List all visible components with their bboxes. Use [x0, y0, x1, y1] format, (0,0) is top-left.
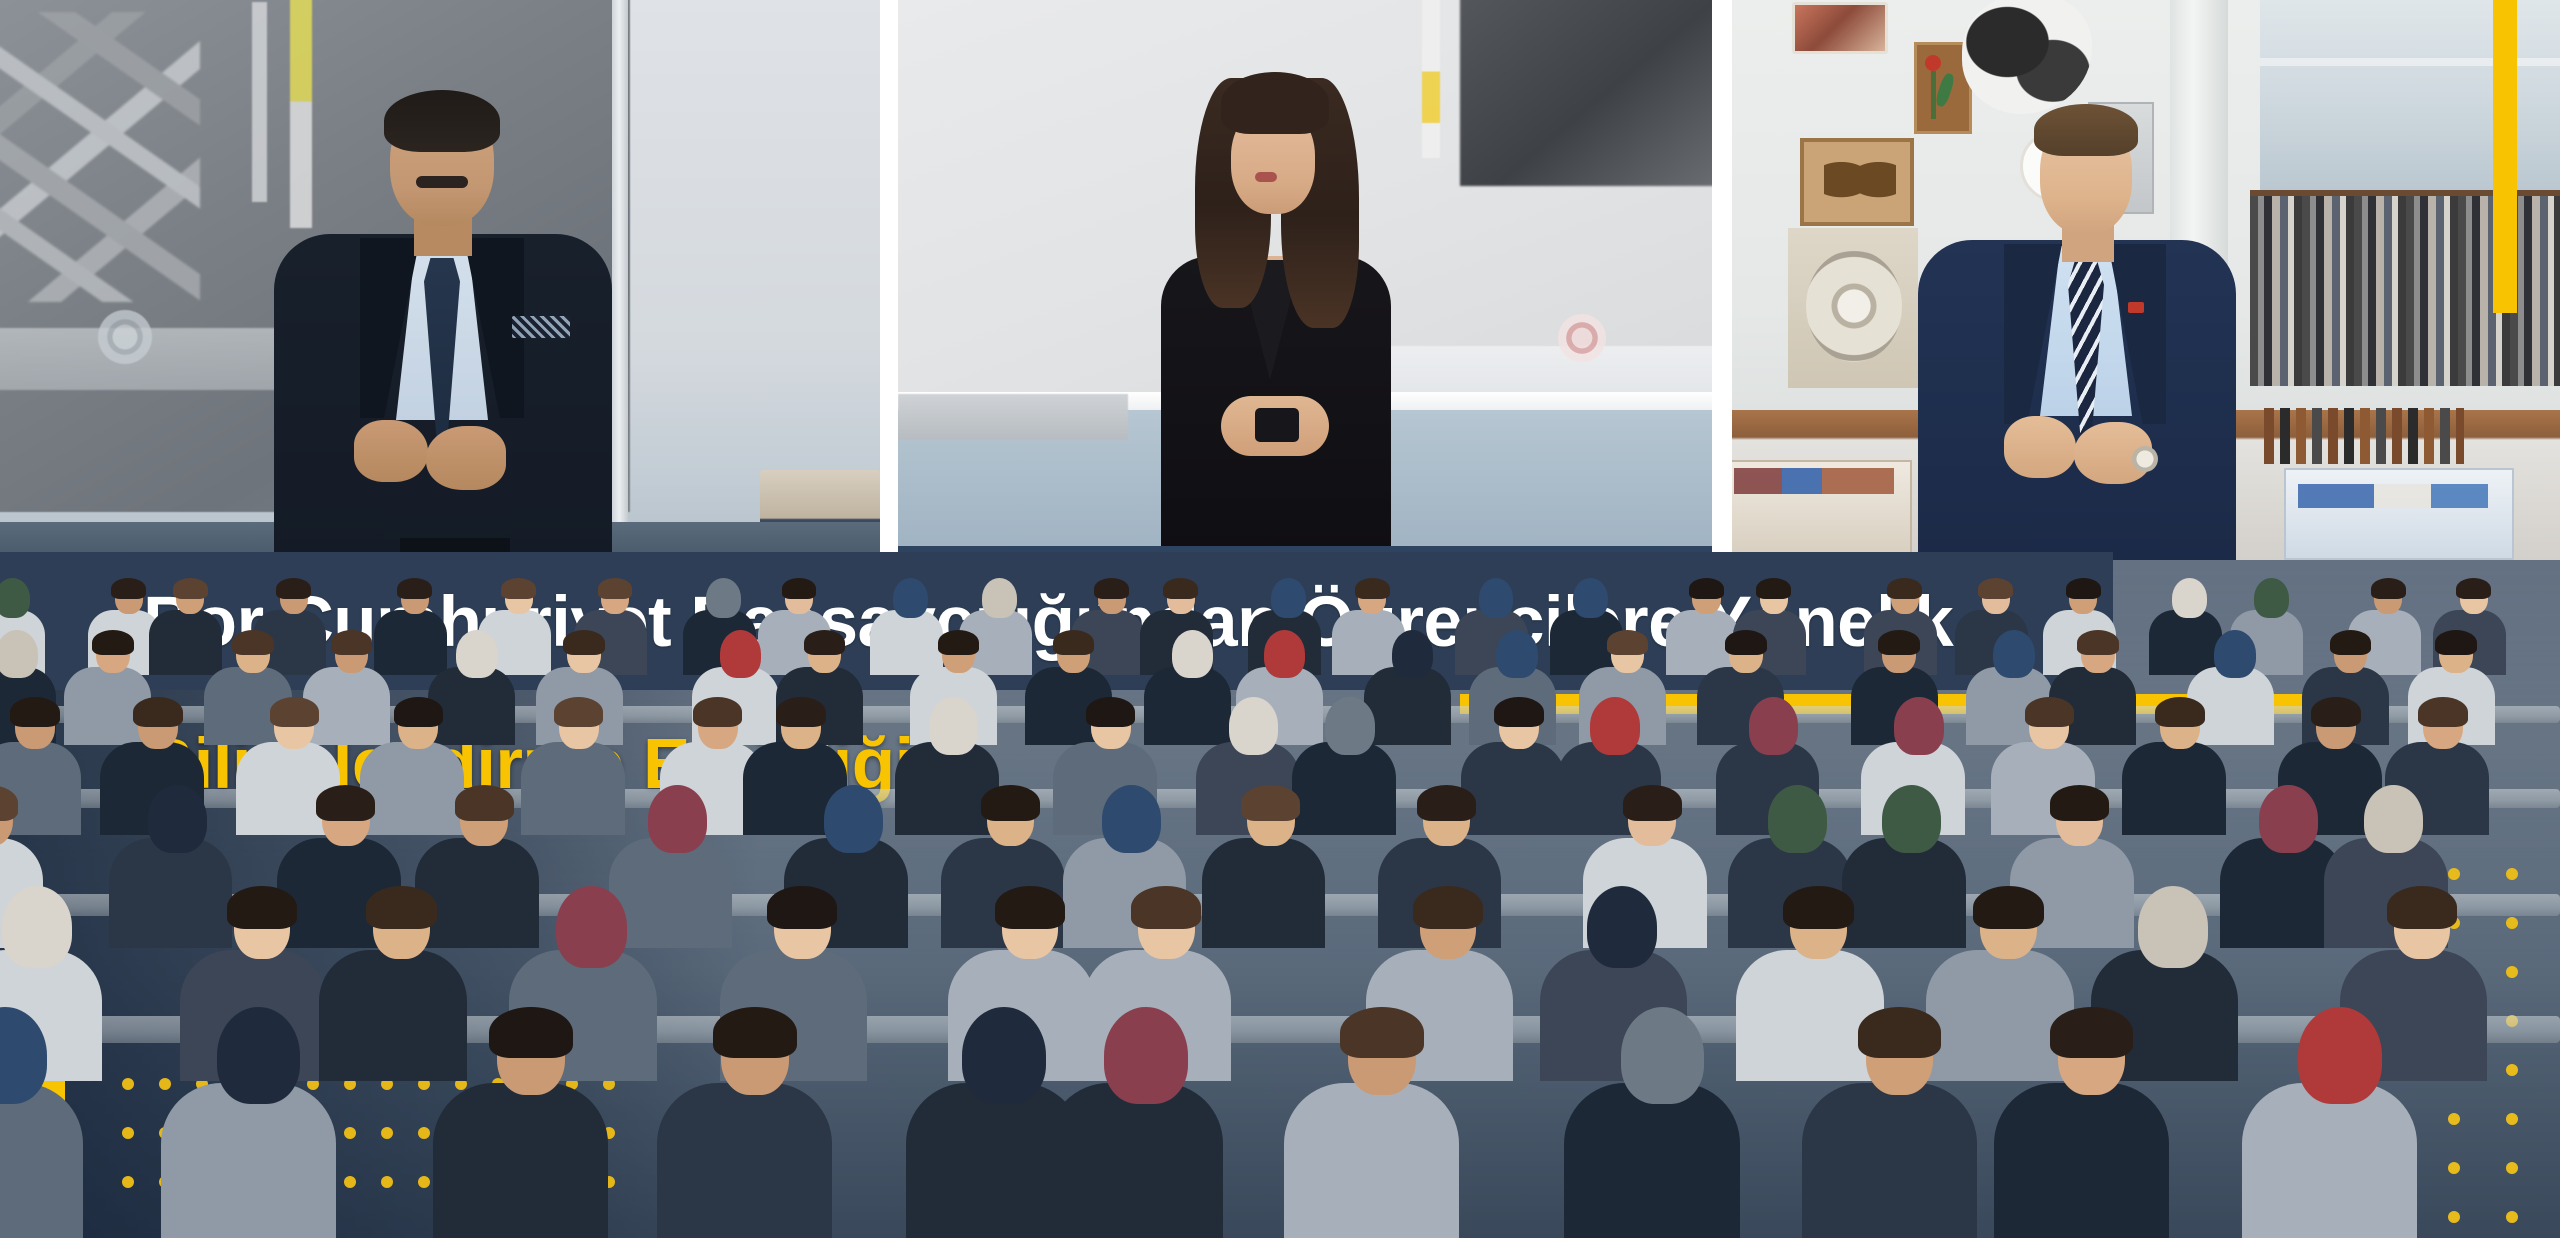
audience-member-headscarf — [1587, 886, 1657, 968]
audience-member-hair — [1783, 886, 1853, 929]
audience-member-body — [1994, 1083, 2170, 1238]
audience-member-headscarf — [1479, 578, 1514, 618]
audience-member-body — [433, 1083, 609, 1238]
audience-member-hair — [366, 886, 436, 929]
audience-member-hair — [173, 578, 208, 599]
audience-member-headscarf — [2364, 785, 2423, 854]
audience-member-hair — [489, 1007, 573, 1058]
audience-member-headscarf — [1271, 578, 1306, 618]
audience-member-headscarf — [1993, 630, 2035, 678]
hair-top — [1221, 72, 1329, 134]
audience-member-headscarf — [929, 697, 979, 755]
audience-member-body — [609, 838, 733, 948]
lips — [1255, 172, 1277, 182]
pocket-square — [512, 316, 570, 338]
audience-member-hair — [1241, 785, 1300, 821]
audience-member-headscarf — [1768, 785, 1827, 854]
audience-member-body — [1842, 838, 1966, 948]
speaker-figure — [250, 90, 630, 560]
audience-member-hair — [394, 697, 444, 727]
audience-member-headscarf — [2298, 1007, 2382, 1104]
audience-member-hair — [776, 697, 826, 727]
audience-member-body — [1802, 1083, 1978, 1238]
dot — [381, 1127, 393, 1139]
audience-member-headscarf — [2214, 630, 2256, 678]
audience-member-hair — [227, 886, 297, 929]
audience-member-hair — [938, 630, 980, 655]
audience-member-hair — [2435, 630, 2477, 655]
audience-member-headscarf — [824, 785, 883, 854]
audience-member-headscarf — [2138, 886, 2208, 968]
audience-member-hair — [1756, 578, 1791, 599]
audience-member-hair — [2066, 578, 2101, 599]
audience-member-headscarf — [1590, 697, 1640, 755]
audience-member-hair — [276, 578, 311, 599]
audience-member-body — [1144, 667, 1231, 745]
audience-member-body — [1284, 1083, 1460, 1238]
audience-member-headscarf — [720, 630, 762, 678]
audience-member-body — [109, 838, 233, 948]
audience-member-headscarf — [706, 578, 741, 618]
audience-member-headscarf — [2254, 578, 2289, 618]
audience-member-hair — [1053, 630, 1095, 655]
audience-member-body — [0, 1083, 83, 1238]
audience-member-headscarf — [1325, 697, 1375, 755]
audience-member-body — [1202, 838, 1326, 948]
audience-member-hair — [1340, 1007, 1424, 1058]
slide-seal-emblem — [98, 310, 152, 364]
audience-member-headscarf — [1392, 630, 1434, 678]
audience-member-hair — [563, 630, 605, 655]
audience-member-hair — [1413, 886, 1483, 929]
audience-member-hair — [270, 697, 320, 727]
slide-highlight-text — [1422, 0, 1440, 158]
dot — [2506, 966, 2518, 978]
dot — [2506, 868, 2518, 880]
audience-member-hair — [1094, 578, 1129, 599]
audience-member-hair — [2387, 886, 2457, 929]
audience-member-hair — [995, 886, 1065, 929]
audience-member-hair — [1978, 578, 2013, 599]
slide-dark-image — [1460, 0, 1712, 186]
audience-member-body — [870, 610, 943, 675]
photo-strip — [0, 0, 2560, 560]
photo-prosecutor-presenting — [0, 0, 880, 560]
audience-member-hair — [1131, 886, 1201, 929]
audience-member-hair — [2311, 697, 2361, 727]
hair — [2034, 104, 2138, 156]
butterfly-motif — [1824, 158, 1896, 212]
audience-member-headscarf — [0, 630, 38, 678]
audience-member-hair — [1725, 630, 1767, 655]
dot — [122, 1127, 134, 1139]
audience-member-body — [2122, 742, 2226, 835]
audience-member-hair — [2456, 578, 2491, 599]
audience-member-headscarf — [0, 578, 30, 618]
audience-member-body — [1926, 950, 2073, 1082]
dot — [122, 1176, 134, 1188]
hand-left — [354, 420, 428, 482]
audience-member-hair — [111, 578, 146, 599]
wristwatch — [486, 454, 514, 482]
dot — [2448, 1162, 2460, 1174]
rose-bloom — [1925, 55, 1941, 71]
audience-member-headscarf — [1229, 697, 1279, 755]
audience-member-hair — [1494, 697, 1544, 727]
audience-member-headscarf — [962, 1007, 1046, 1104]
audience-member-headscarf — [1749, 697, 1799, 755]
photo-2-scene — [898, 0, 1712, 560]
news-banner: Bor Cumhuriyet Başsavcılığı’ndan Öğrenci… — [0, 0, 2560, 1238]
photo-1-scene — [0, 0, 880, 560]
tool-cups — [2264, 408, 2464, 464]
audience-member-hair — [232, 630, 274, 655]
dot — [418, 1127, 430, 1139]
audience-member-hair — [2418, 697, 2468, 727]
audience-member-headscarf — [648, 785, 707, 854]
audience-member-hair — [804, 630, 846, 655]
dot — [2448, 868, 2460, 880]
dot — [2506, 917, 2518, 929]
audience-member-body — [360, 742, 464, 835]
audience-member-hair — [2025, 697, 2075, 727]
audience-member-body — [149, 610, 222, 675]
audience-member-headscarf — [148, 785, 207, 854]
moustache — [416, 176, 468, 188]
audience-member-headscarf — [1621, 1007, 1705, 1104]
dot — [2448, 1113, 2460, 1125]
audience-member-headscarf — [1573, 578, 1608, 618]
audience-member-headscarf — [1172, 630, 1214, 678]
audience-member-hair — [331, 630, 373, 655]
dot — [2506, 1113, 2518, 1125]
audience-member-body — [319, 950, 466, 1082]
dot — [2506, 1064, 2518, 1076]
audience-member-hair — [397, 578, 432, 599]
audience-member-body — [1564, 1083, 1740, 1238]
wall-art-leather — [1792, 2, 1888, 54]
audience-member-body — [657, 1083, 833, 1238]
slide-chain-image — [0, 12, 200, 302]
audience-member-hair — [598, 578, 633, 599]
audience-member-hair — [1163, 578, 1198, 599]
dot — [122, 1078, 134, 1090]
audience-member-hair — [782, 578, 817, 599]
audience-member-body — [1364, 667, 1451, 745]
audience-member-headscarf — [217, 1007, 301, 1104]
audience-member-hair — [133, 697, 183, 727]
audience-member-body — [1048, 1083, 1224, 1238]
dot — [2506, 1162, 2518, 1174]
audience-member-hair — [1607, 630, 1649, 655]
audience-member-headscarf — [1102, 785, 1161, 854]
dot — [2506, 1211, 2518, 1223]
photo-official-workshop — [1732, 0, 2560, 560]
audience-member-body — [1292, 742, 1396, 835]
audience-member-body — [895, 742, 999, 835]
audience-member-headscarf — [893, 578, 928, 618]
audience-member-hair — [1689, 578, 1724, 599]
audience-member-hair — [501, 578, 536, 599]
audience-member-hair — [1858, 1007, 1942, 1058]
accent-bar-top-right — [2493, 0, 2517, 313]
audience-member-hair — [2077, 630, 2119, 655]
material-box-right — [2284, 468, 2514, 560]
audience-member-hair — [1417, 785, 1476, 821]
audience-member-headscarf — [2172, 578, 2207, 618]
dot — [418, 1176, 430, 1188]
slide-seal-emblem — [1558, 314, 1606, 362]
belt — [400, 538, 510, 552]
audience-member-hair — [1355, 578, 1390, 599]
audience-member-headscarf — [1496, 630, 1538, 678]
audience-member-hair — [316, 785, 375, 821]
audience-member-body — [521, 742, 625, 835]
audience-member-body — [161, 1083, 337, 1238]
audience-member-hair — [2371, 578, 2406, 599]
audience-member-hair — [767, 886, 837, 929]
audience-member-hair — [2050, 785, 2109, 821]
audience-member-body — [374, 610, 447, 675]
audience-member-headscarf — [982, 578, 1017, 618]
presenter-remote — [1255, 408, 1299, 442]
audience-member-hair — [713, 1007, 797, 1058]
audience-member-hair — [92, 630, 134, 655]
photo-woman-speaker — [898, 0, 1712, 560]
audience-member-body — [1736, 950, 1883, 1082]
hair — [384, 90, 500, 152]
audience-member-hair — [2050, 1007, 2134, 1058]
audience-member-headscarf — [1104, 1007, 1188, 1104]
audience-member-hair — [10, 697, 60, 727]
hand-left — [2004, 416, 2076, 478]
audience-member-body — [1461, 742, 1565, 835]
wall-skirting — [898, 394, 1128, 440]
audience-member-hair — [2155, 697, 2205, 727]
audience-member-hair — [1878, 630, 1920, 655]
audience-member-hair — [693, 697, 743, 727]
speaker-figure — [1113, 60, 1423, 560]
turkish-flag-pin — [2128, 302, 2144, 313]
audience-member-hair — [981, 785, 1040, 821]
audience-member-body — [415, 838, 539, 948]
audience-member-hair — [455, 785, 514, 821]
audience-member-hair — [1623, 785, 1682, 821]
audience-member-hair — [554, 697, 604, 727]
wristwatch — [2132, 446, 2158, 472]
audience-member-headscarf — [2259, 785, 2318, 854]
audience-member-hair — [1086, 697, 1136, 727]
material-box-left — [1732, 460, 1912, 556]
audience-member-headscarf — [556, 886, 626, 968]
dot — [2448, 1211, 2460, 1223]
audience-member-headscarf — [1264, 630, 1306, 678]
audience-member-hair — [1887, 578, 1922, 599]
dot — [344, 1127, 356, 1139]
audience-member-hair — [2330, 630, 2372, 655]
wheel-motif — [1806, 250, 1902, 362]
audience-member-body — [2149, 610, 2222, 675]
audience-member-headscarf — [456, 630, 498, 678]
dot — [381, 1176, 393, 1188]
audience-member-body — [2242, 1083, 2418, 1238]
audience-member-headscarf — [1882, 785, 1941, 854]
audience-member-hair — [1973, 886, 2043, 929]
photo-3-scene — [1732, 0, 2560, 560]
audience-member-headscarf — [2, 886, 72, 968]
dot — [344, 1176, 356, 1188]
dot — [159, 1078, 171, 1090]
audience-member-headscarf — [1894, 697, 1944, 755]
speaker-figure — [1892, 80, 2252, 560]
